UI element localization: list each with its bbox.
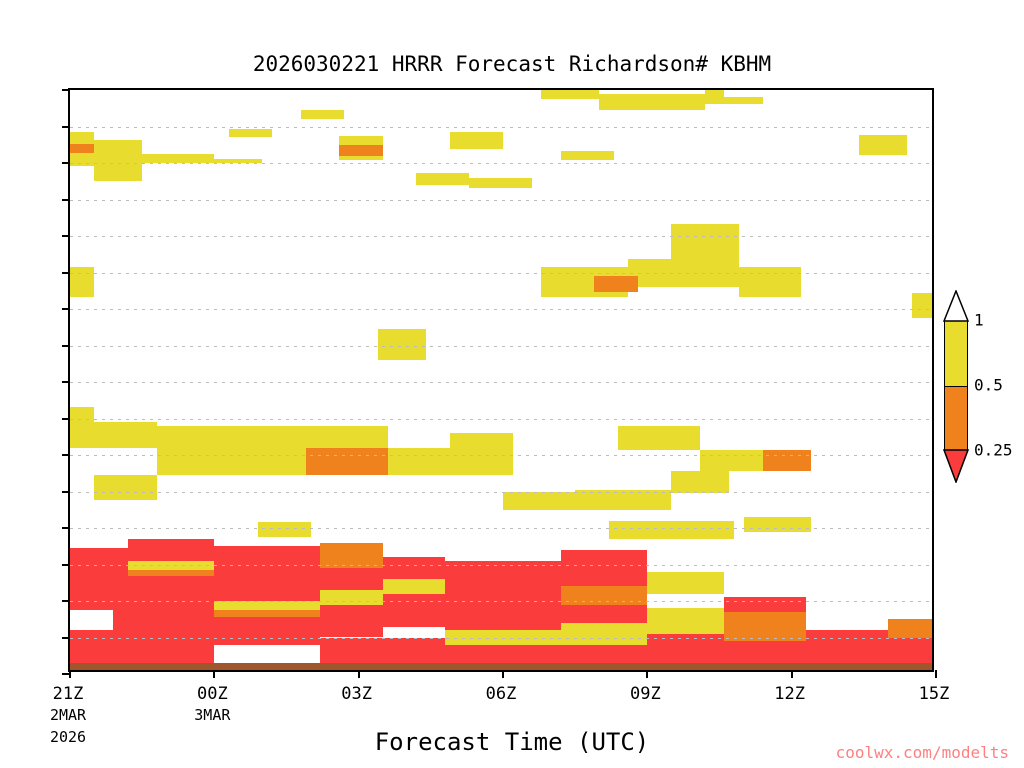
heatmap-cell xyxy=(647,634,724,663)
heatmap-cell xyxy=(339,156,382,160)
heatmap-cell xyxy=(128,576,215,601)
heatmap-cell xyxy=(647,608,724,634)
heatmap-cell xyxy=(157,426,306,448)
heatmap-cell xyxy=(859,135,907,155)
page-title: 2026030221 HRRR Forecast Richardson# KBH… xyxy=(0,52,1024,76)
heatmap-cell xyxy=(561,550,648,587)
heatmap-cell xyxy=(128,539,215,561)
heatmap-cell xyxy=(724,627,806,642)
heatmap-cell xyxy=(258,522,311,537)
y-axis-tick xyxy=(62,491,70,493)
heatmap-cell xyxy=(214,617,320,645)
heatmap-cell xyxy=(647,594,724,609)
heatmap-cell xyxy=(575,490,671,510)
heatmap-cell xyxy=(561,151,614,160)
x-axis-tick xyxy=(358,670,360,678)
x-axis-label: 06Z xyxy=(486,684,517,704)
y-axis-tick xyxy=(62,272,70,274)
heatmap-cell xyxy=(70,407,94,448)
heatmap-cell xyxy=(70,153,94,166)
y-axis-tick xyxy=(62,564,70,566)
heatmap-cell xyxy=(157,448,306,475)
heatmap-cell xyxy=(561,645,648,663)
x-axis-label: 15Z xyxy=(919,684,950,704)
heatmap-cell xyxy=(94,475,157,501)
meteogram-plot-area xyxy=(68,88,934,672)
colorbar-tick-label: 1 xyxy=(974,311,984,330)
heatmap-cell xyxy=(450,433,513,475)
heatmap-cell xyxy=(320,543,383,569)
y-axis-tick xyxy=(62,162,70,164)
heatmap-cell xyxy=(70,144,94,153)
x-axis-label: 00Z xyxy=(197,684,228,704)
heatmap-cell xyxy=(301,110,344,119)
heatmap-cell xyxy=(94,422,157,448)
heatmap-cell xyxy=(70,267,94,296)
heatmap-cell xyxy=(503,492,575,510)
heatmap-cell xyxy=(541,90,599,99)
colorbar[interactable] xyxy=(944,320,968,450)
heatmap-cell xyxy=(128,561,215,570)
heatmap-cell xyxy=(339,136,382,145)
heatmap-cell xyxy=(739,267,802,296)
heatmap-cell xyxy=(647,572,724,594)
heatmap-cell xyxy=(383,579,446,594)
heatmap-cell xyxy=(70,548,128,583)
x-axis-tick xyxy=(646,670,648,678)
x-axis-tick xyxy=(791,670,793,678)
heatmap-cell xyxy=(214,159,262,163)
heatmap-cell xyxy=(763,450,811,471)
heatmap-cell xyxy=(888,638,932,664)
colorbar-over-arrow-outline xyxy=(943,290,969,322)
heatmap-cell xyxy=(445,630,560,645)
heatmap-cell xyxy=(705,97,763,104)
heatmap-cell xyxy=(142,154,214,163)
heatmap-cell xyxy=(700,450,763,471)
heatmap-cell xyxy=(214,601,320,610)
heatmap-cell xyxy=(724,641,806,663)
heatmap-cell xyxy=(450,132,503,149)
x-axis-date-label: 3MAR xyxy=(194,706,230,724)
y-axis-tick xyxy=(62,418,70,420)
y-axis-tick xyxy=(62,89,70,91)
heatmap-cell xyxy=(378,329,426,360)
heatmap-cell xyxy=(383,557,446,579)
heatmap-cell xyxy=(806,630,888,663)
y-axis-tick xyxy=(62,235,70,237)
heatmap-cell xyxy=(320,568,383,590)
heatmap-cell xyxy=(561,605,648,623)
heatmap-cell xyxy=(229,129,272,137)
heatmap-cell xyxy=(561,623,648,645)
heatmap-cell xyxy=(671,224,738,241)
heatmap-cell xyxy=(599,94,705,110)
colorbar-segment xyxy=(945,321,967,386)
y-axis-tick xyxy=(62,637,70,639)
x-axis-label: 09Z xyxy=(630,684,661,704)
heatmap-cell xyxy=(70,132,94,144)
x-axis-tick xyxy=(213,670,215,678)
heatmap-cell xyxy=(320,590,383,605)
heatmap-cell xyxy=(888,619,932,637)
y-axis-tick xyxy=(62,527,70,529)
x-axis-label: 03Z xyxy=(341,684,372,704)
heatmap-cell xyxy=(214,546,320,601)
y-axis-tick xyxy=(62,345,70,347)
heatmap-cell xyxy=(445,645,560,663)
terrain-band xyxy=(70,663,932,670)
y-axis-tick xyxy=(62,381,70,383)
heatmap-cell xyxy=(306,448,388,475)
colorbar-segment xyxy=(945,386,967,452)
y-axis-tick xyxy=(62,454,70,456)
heatmap-cell xyxy=(388,448,451,475)
heatmap-cell xyxy=(214,610,320,617)
heatmap-cells xyxy=(70,90,932,670)
y-axis-tick xyxy=(62,126,70,128)
heatmap-cell xyxy=(113,601,214,630)
heatmap-cell xyxy=(671,240,738,287)
chart-page: 2026030221 HRRR Forecast Richardson# KBH… xyxy=(0,0,1024,768)
heatmap-cell xyxy=(306,426,388,448)
heatmap-cell xyxy=(445,561,560,630)
heatmap-cell xyxy=(416,173,469,185)
heatmap-cell xyxy=(94,140,142,182)
heatmap-cell xyxy=(609,521,734,539)
heatmap-cell xyxy=(70,610,113,627)
x-axis-date-label: 2MAR xyxy=(50,706,86,724)
heatmap-cell xyxy=(724,597,806,612)
heatmap-cell xyxy=(671,471,729,493)
x-axis-label: 21Z xyxy=(53,684,84,704)
heatmap-cell xyxy=(70,630,214,663)
colorbar-tick-label: 0.25 xyxy=(974,441,1013,460)
heatmap-cell xyxy=(469,178,532,188)
x-axis-tick xyxy=(502,670,504,678)
heatmap-cell xyxy=(618,426,700,450)
heatmap-cell xyxy=(383,594,446,627)
watermark: coolwx.com/modelts xyxy=(0,743,1009,762)
x-axis-tick xyxy=(69,670,71,678)
heatmap-cell xyxy=(561,586,648,604)
heatmap-cell xyxy=(594,276,637,292)
y-axis-tick xyxy=(62,308,70,310)
heatmap-cell xyxy=(320,605,383,638)
heatmap-cell xyxy=(320,638,445,664)
heatmap-cell xyxy=(912,293,932,318)
colorbar-tick-label: 0.5 xyxy=(974,376,1003,395)
x-axis-label: 12Z xyxy=(774,684,805,704)
y-axis-tick xyxy=(62,600,70,602)
heatmap-cell xyxy=(724,612,806,627)
heatmap-cell xyxy=(744,517,811,532)
colorbar-under-arrow xyxy=(943,449,969,483)
x-axis-tick xyxy=(935,670,937,678)
heatmap-cell xyxy=(339,145,382,155)
y-axis-tick xyxy=(62,199,70,201)
